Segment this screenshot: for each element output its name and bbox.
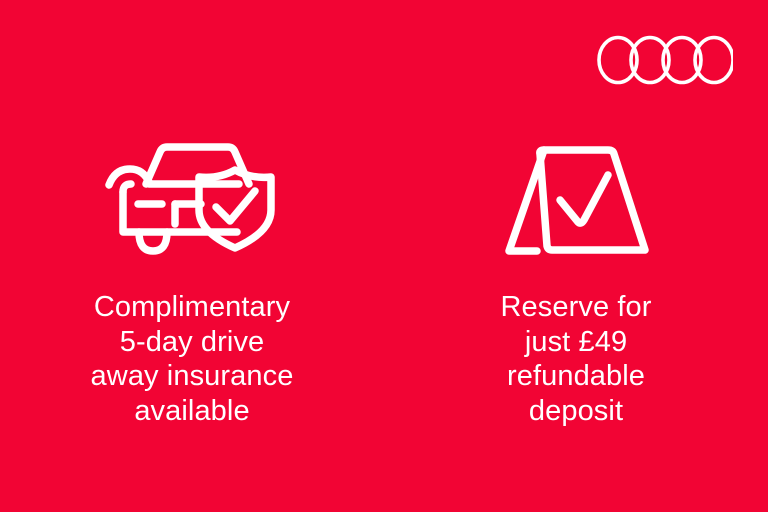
feature-list: Complimentary 5-day drive away insurance… xyxy=(0,0,768,512)
feature-caption-complimentary-insurance: Complimentary 5-day drive away insurance… xyxy=(91,290,294,428)
feature-complimentary-insurance: Complimentary 5-day drive away insurance… xyxy=(0,0,384,428)
a-frame-sign-check-icon xyxy=(501,133,651,258)
feature-caption-refundable-deposit: Reserve for just £49 refundable deposit xyxy=(501,290,652,428)
car-with-shield-check-icon xyxy=(105,133,280,258)
feature-refundable-deposit: Reserve for just £49 refundable deposit xyxy=(384,0,768,428)
